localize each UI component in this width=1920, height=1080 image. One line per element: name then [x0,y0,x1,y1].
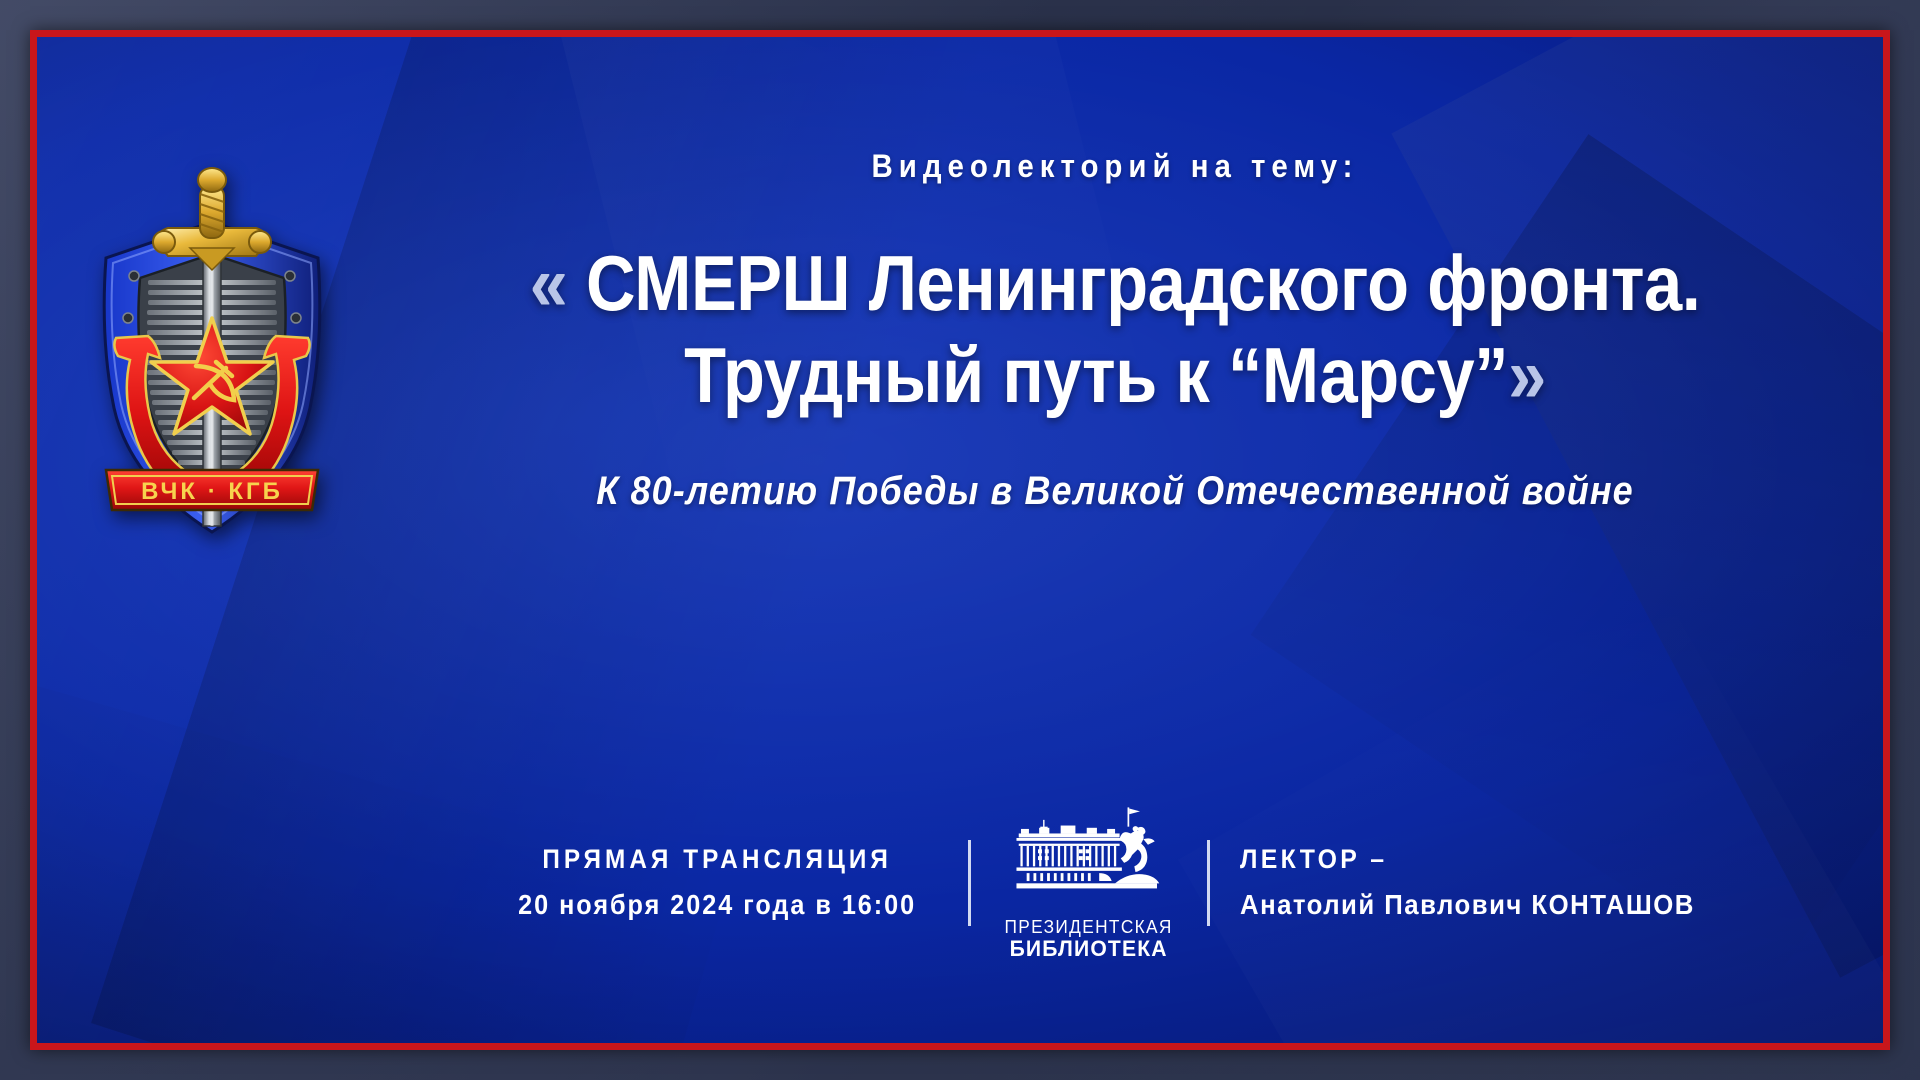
title-line-1-text: СМЕРШ Ленинградского фронта. [567,239,1700,327]
broadcast-datetime: 20 ноября 2024 года в 16:00 [518,882,916,927]
kgb-emblem: ВЧК · КГБ [72,150,352,560]
title-line-2: Трудный путь к “Марсу”» [442,329,1788,421]
poster-subtitle: К 80-летию Победы в Великой Отечественно… [427,469,1804,514]
open-guillemet: « [530,239,568,327]
logo-text-line-1: ПРЕЗИДЕНТСКАЯ [1005,917,1173,937]
lecturer-block: ЛЕКТОР – Анатолий Павлович КОНТАШОВ [1240,838,1695,927]
footer-divider-right [1207,840,1210,926]
close-guillemet: » [1508,331,1546,419]
poster-footer: ПРЯМАЯ ТРАНСЛЯЦИЯ 20 ноября 2024 года в … [350,804,1880,962]
broadcast-block: ПРЯМАЯ ТРАНСЛЯЦИЯ 20 ноября 2024 года в … [518,838,916,927]
logo-text-line-2: БИБЛИОТЕКА [1005,937,1173,962]
emblem-banner-text: ВЧК · КГБ [141,478,283,505]
kicker-text: Видеолекторий на тему: [411,148,1819,185]
poster-canvas: ВЧК · КГБ Видеолекторий на тему: « СМЕРШ… [0,0,1920,1080]
poster-title: « СМЕРШ Ленинградского фронта. Трудный п… [442,237,1788,421]
presidential-library-logo: ПРЕЗИДЕНТСКАЯ БИБЛИОТЕКА [1001,804,1177,962]
lecturer-name: Анатолий Павлович КОНТАШОВ [1240,882,1695,927]
broadcast-label: ПРЯМАЯ ТРАНСЛЯЦИЯ [518,838,916,882]
title-line-1: « СМЕРШ Ленинградского фронта. [442,237,1788,329]
lecturer-label: ЛЕКТОР – [1240,838,1695,882]
poster-content: Видеолекторий на тему: « СМЕРШ Ленинград… [350,60,1880,514]
title-line-2-text: Трудный путь к “Марсу” [684,331,1508,419]
library-building-icon [1004,804,1174,912]
footer-divider-left [968,840,971,926]
